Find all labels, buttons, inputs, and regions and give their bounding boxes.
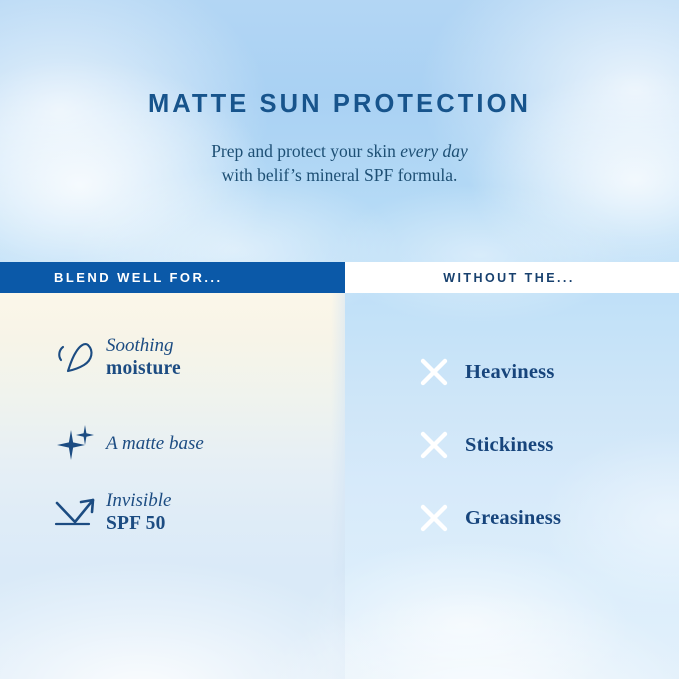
list-item-line-2: SPF 50 <box>106 513 166 534</box>
list-item-line-1: A matte base <box>106 433 204 454</box>
x-mark-icon <box>403 501 465 535</box>
hero-subtitle: Prep and protect your skin every day wit… <box>0 139 679 189</box>
list-item-label: Greasiness <box>465 507 561 530</box>
list-item-label: Stickiness <box>465 434 554 457</box>
list-item: Invisible SPF 50 <box>48 489 171 536</box>
list-item: A matte base <box>48 421 204 467</box>
right-column-header-label: WITHOUT THE... <box>443 271 581 285</box>
hero-section: MATTE SUN PROTECTION Prep and protect yo… <box>0 0 679 188</box>
subtitle-emphasis: every day <box>400 141 468 161</box>
cloud-shape <box>330 185 630 325</box>
droplet-icon <box>48 334 106 380</box>
x-mark-icon <box>403 355 465 389</box>
subtitle-line-1: Prep and protect your skin every day <box>211 141 468 161</box>
x-mark-icon <box>403 428 465 462</box>
left-column-header-label: BLEND WELL FOR... <box>0 270 223 285</box>
right-column-header: WITHOUT THE... <box>345 262 679 293</box>
subtitle-line-2: with belif’s mineral SPF formula. <box>222 165 458 185</box>
left-column-header: BLEND WELL FOR... <box>0 262 345 293</box>
page-title: MATTE SUN PROTECTION <box>0 92 679 118</box>
list-item: Soothing moisture <box>48 334 181 381</box>
list-item-text: Invisible SPF 50 <box>106 489 171 536</box>
list-item-text: Soothing moisture <box>106 334 181 381</box>
list-item-label: Heaviness <box>465 361 555 384</box>
sparkle-stars-icon <box>48 421 106 467</box>
list-item-line-1: Invisible <box>106 490 171 511</box>
list-item-line-2: moisture <box>106 358 181 379</box>
list-item-line-1: Soothing <box>106 335 174 356</box>
list-item-text: A matte base <box>106 432 204 455</box>
deflect-arrow-icon <box>48 490 106 534</box>
subtitle-text-a: Prep and protect your skin <box>211 141 400 161</box>
promo-graphic: MATTE SUN PROTECTION Prep and protect yo… <box>0 0 679 679</box>
list-item: Heaviness <box>403 355 555 389</box>
list-item: Stickiness <box>403 428 554 462</box>
list-item: Greasiness <box>403 501 561 535</box>
